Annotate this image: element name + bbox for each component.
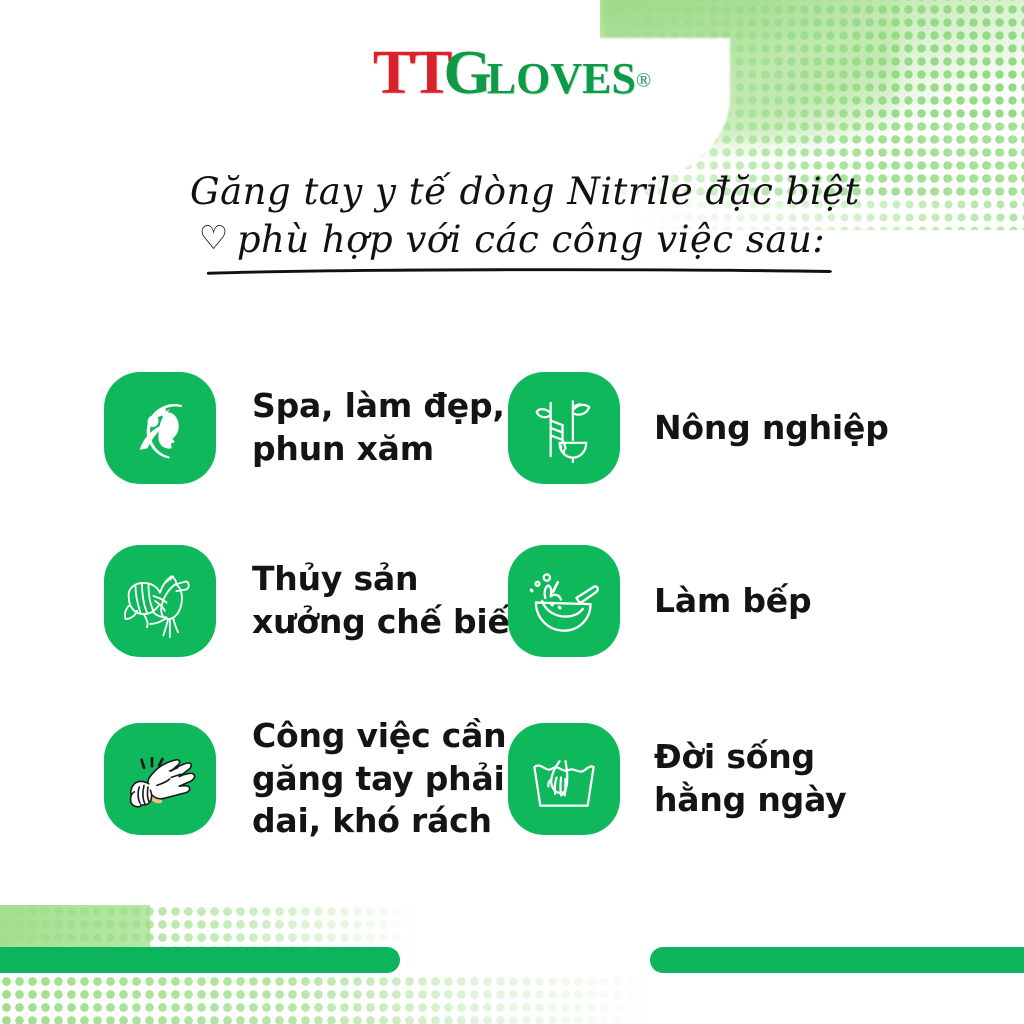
cooking-wok-icon [524,562,604,640]
badge-agriculture [508,372,620,484]
benefit-label-line: găng tay phải [252,758,506,801]
benefit-label-line: Thủy sản [252,558,533,601]
badge-seafood [104,545,216,657]
benefit-item-spa[interactable]: Spa, làm đẹp, phun xăm [0,372,500,484]
headline-line-2-wrapper: ♡phù hợp với các công việc sau: [199,216,826,264]
badge-durable-glove [104,723,216,835]
benefit-item-agriculture[interactable]: Nông nghiệp [500,372,1024,484]
logo-text-g-green: G [444,39,490,107]
benefit-label-line: Đời sống [654,736,846,779]
badge-cooking [508,545,620,657]
benefit-label-line: phun xăm [252,428,505,471]
benefit-item-cooking[interactable]: Làm bếp [500,516,1024,686]
badge-daily-life [508,723,620,835]
benefit-item-daily-life[interactable]: Đời sống hằng ngày [500,694,1024,864]
registered-trademark-icon: ® [636,70,651,92]
headline-line-2: phù hợp với các công việc sau: [237,218,825,261]
benefits-row-1: Spa, làm đẹp, phun xăm [0,348,1024,508]
benefits-row-2: Thủy sản xưởng chế biến [0,516,1024,686]
benefit-label-line: Công việc cần [252,715,506,758]
benefit-label-seafood: Thủy sản xưởng chế biến [252,558,533,644]
benefit-item-seafood[interactable]: Thủy sản xưởng chế biến [0,516,500,686]
badge-spa [104,372,216,484]
headline-block: Găng tay y tế dòng Nitrile đặc biệt ♡phù… [0,168,1024,264]
poster-canvas: TTGLOVES® Găng tay y tế dòng Nitrile đặc… [0,0,1024,1024]
green-bar-left [0,947,400,973]
logo-text-loves: LOVES [487,54,636,103]
headline-line-1: Găng tay y tế dòng Nitrile đặc biệt [0,168,1024,216]
benefit-item-durable-glove[interactable]: Công việc cần găng tay phải dai, khó rác… [0,694,500,864]
benefits-row-3: Công việc cần găng tay phải dai, khó rác… [0,694,1024,864]
heart-icon: ♡ [199,218,229,257]
benefit-label-cooking: Làm bếp [654,580,811,623]
benefit-label-line: hằng ngày [654,779,846,822]
seafood-shrimp-squid-icon [119,560,201,642]
halftone-dots-bottom-left-upper [0,905,420,973]
benefit-label-line: dai, khó rách [252,800,506,843]
benefit-label-daily-life: Đời sống hằng ngày [654,736,846,822]
benefit-label-line: Làm bếp [654,580,811,623]
brand-logo: TTGLOVES® [0,42,1024,104]
green-bar-right [650,947,1024,973]
glove-hand-icon [117,739,203,819]
green-block-bottom-left [0,905,150,973]
benefit-label-line: Spa, làm đẹp, [252,385,505,428]
benefit-label-durable-glove: Công việc cần găng tay phải dai, khó rác… [252,715,506,844]
benefit-label-line: xưởng chế biến [252,601,533,644]
headline-underline-stroke [207,268,834,275]
agriculture-plant-icon [527,389,601,467]
logo-text-ttg-red: TT [373,39,450,107]
spa-face-icon [121,389,199,467]
halftone-dots-bottom-left-lower [0,975,660,1024]
benefit-label-spa: Spa, làm đẹp, phun xăm [252,385,505,471]
benefits-grid: Spa, làm đẹp, phun xăm [0,348,1024,872]
benefit-label-line: Nông nghiệp [654,407,889,450]
benefit-label-agriculture: Nông nghiệp [654,407,889,450]
handwash-basin-icon [524,742,604,816]
